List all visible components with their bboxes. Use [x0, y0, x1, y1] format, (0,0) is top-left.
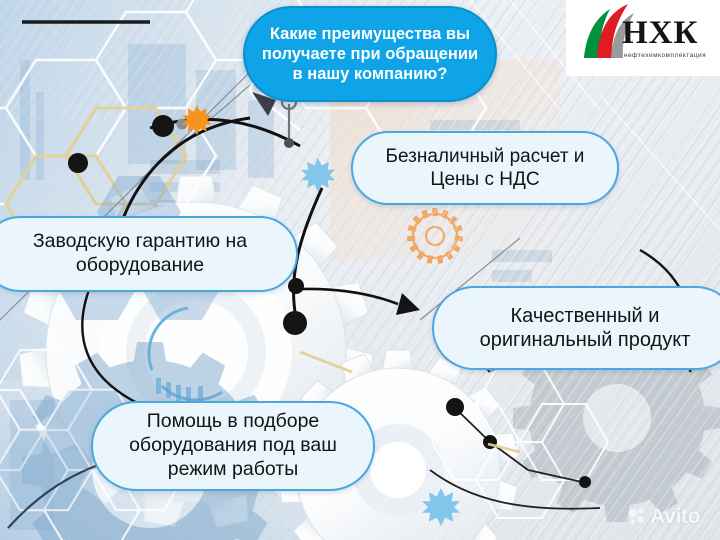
- benefit-text-help: Помощь в подборе оборудования под ваш ре…: [93, 410, 373, 481]
- benefit-pill-quality: Качественный и оригинальный продукт: [432, 286, 720, 370]
- avito-dots-icon: [628, 507, 646, 525]
- promo-banner: Какие преимущества вы получаете при обра…: [0, 0, 720, 540]
- benefit-text-quality: Качественный и оригинальный продукт: [434, 304, 720, 353]
- logo-tagline: нефтехимкомплектация: [624, 52, 706, 59]
- company-logo: НХК нефтехимкомплектация: [566, 0, 720, 76]
- benefit-pill-help: Помощь в подборе оборудования под ваш ре…: [91, 401, 375, 491]
- logo-wordmark: НХК: [622, 17, 698, 50]
- benefit-text-vat: Безналичный расчет и Цены с НДС: [353, 145, 617, 191]
- benefit-pill-warranty: Заводскую гарантию на оборудование: [0, 216, 298, 292]
- benefit-pill-vat: Безналичный расчет и Цены с НДС: [351, 131, 619, 205]
- avito-label: Avito: [650, 506, 700, 527]
- question-bubble: Какие преимущества вы получаете при обра…: [243, 6, 497, 102]
- avito-watermark: Avito: [628, 503, 700, 529]
- benefit-text-warranty: Заводскую гарантию на оборудование: [0, 230, 296, 278]
- question-text: Какие преимущества вы получаете при обра…: [245, 24, 495, 84]
